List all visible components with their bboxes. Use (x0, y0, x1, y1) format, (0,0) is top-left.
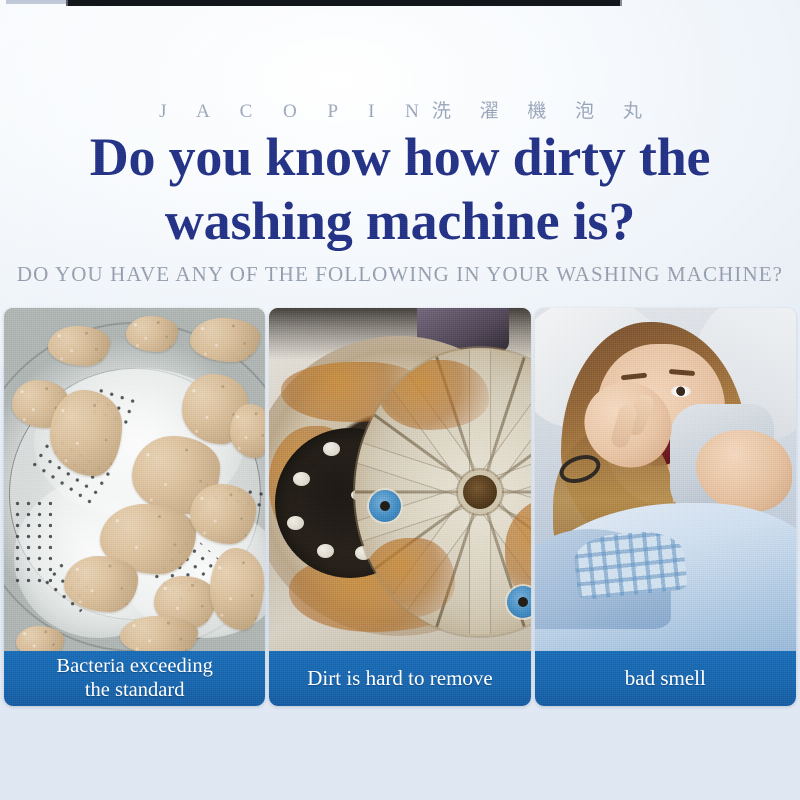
card-caption: bad smell (535, 651, 796, 706)
screw-cap (507, 586, 530, 618)
brand-eyebrow: J A C O P I N洗 濯 機 泡 丸 (0, 96, 800, 123)
pulsator-disc (355, 348, 530, 636)
top-cropped-bar (66, 0, 622, 6)
photo-rusty-pulsator (269, 308, 530, 653)
card-caption-line1: Bacteria exceeding (56, 655, 213, 677)
eye (671, 386, 691, 397)
problem-card-smell[interactable]: bad smell (535, 308, 796, 706)
page-title-line2: washing machine is? (0, 189, 800, 253)
poster-page: J A C O P I N洗 濯 機 泡 丸 Do you know how d… (0, 0, 800, 800)
drain-dot (287, 516, 304, 530)
problem-card-row: Bacteria exceeding the standard (4, 308, 796, 706)
brand-cjk: 洗 濯 機 泡 丸 (432, 101, 654, 122)
photo-woman-bad-smell (535, 308, 796, 653)
residue-flake (16, 626, 64, 653)
brand-latin: J A C O P I N (159, 101, 432, 122)
card-caption-line1: Dirt is hard to remove (307, 666, 492, 690)
card-caption-line2: the standard (85, 679, 185, 701)
rust-stain (379, 360, 489, 430)
card-caption-line1: bad smell (625, 666, 706, 690)
page-title: Do you know how dirty the washing machin… (0, 125, 800, 254)
drain-dot (293, 472, 310, 486)
drain-dot (317, 544, 334, 558)
rust-stain (365, 538, 455, 618)
drain-dot (323, 442, 340, 456)
problem-card-dirt[interactable]: Dirt is hard to remove (269, 308, 530, 706)
photo-dirty-drum (4, 308, 265, 653)
page-title-line1: Do you know how dirty the (90, 127, 711, 187)
card-caption: Dirt is hard to remove (269, 651, 530, 706)
card-caption: Bacteria exceeding the standard (4, 651, 265, 706)
problem-card-bacteria[interactable]: Bacteria exceeding the standard (4, 308, 265, 706)
residue-flake (120, 616, 198, 653)
page-subtitle: DO YOU HAVE ANY OF THE FOLLOWING IN YOUR… (0, 262, 800, 287)
